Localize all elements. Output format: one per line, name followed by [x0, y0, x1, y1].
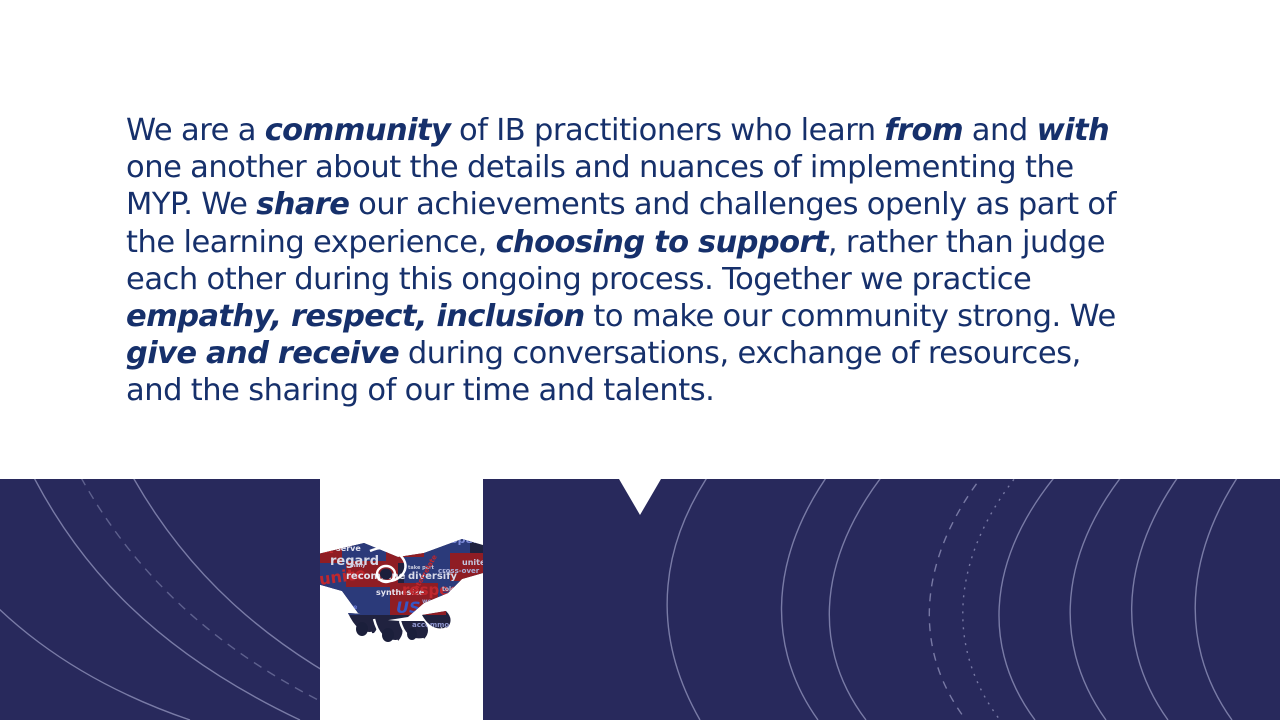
svg-text:communicate: communicate — [320, 604, 357, 611]
svg-text:cross-over: cross-over — [438, 567, 480, 575]
bottom-banner: Purpose and Norms — [0, 479, 1280, 720]
svg-text:serve: serve — [336, 544, 361, 553]
segment-emphasis: with — [1037, 113, 1110, 148]
decorative-arcs — [0, 479, 1280, 720]
svg-text:work together: work together — [422, 598, 470, 605]
svg-text:thank: thank — [440, 626, 467, 635]
svg-text:share: share — [320, 592, 342, 602]
body-paragraph: We are a community of IB practitioners w… — [126, 112, 1138, 410]
segment-emphasis: empathy, respect, inclusion — [126, 299, 585, 334]
segment-text: We are a — [126, 113, 265, 148]
svg-text:cooperate: cooperate — [436, 533, 483, 546]
svg-text:unite: unite — [462, 558, 483, 567]
segment-text: of IB practitioners who learn — [450, 113, 884, 148]
segment-text: to make our community strong. We — [585, 299, 1116, 334]
handshake-word-cloud-image: ect serve regard unite share communicate… — [320, 517, 483, 652]
banner-notch — [619, 479, 661, 515]
slide: We are a community of IB practitioners w… — [0, 0, 1280, 720]
segment-emphasis: choosing to support — [496, 225, 828, 260]
segment-emphasis: from — [884, 113, 963, 148]
segment-emphasis: share — [256, 187, 349, 222]
image-panel: ect serve regard unite share communicate… — [320, 479, 483, 720]
segment-text: and — [963, 113, 1037, 148]
segment-emphasis: give and receive — [126, 336, 399, 371]
svg-text:tolerate: tolerate — [442, 586, 469, 593]
body-text-block: We are a community of IB practitioners w… — [126, 112, 1138, 410]
segment-emphasis: community — [265, 113, 451, 148]
svg-text:many: many — [350, 563, 366, 569]
svg-text:US: US — [396, 598, 421, 617]
